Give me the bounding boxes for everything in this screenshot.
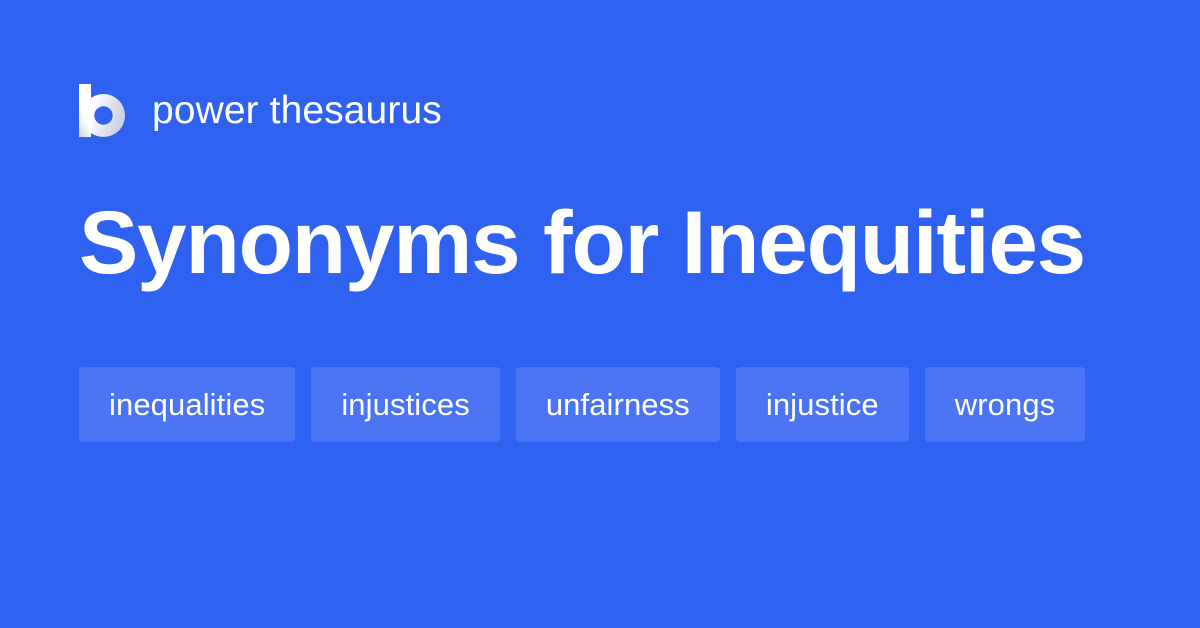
synonym-chip[interactable]: injustices	[311, 367, 500, 442]
brand-name: power thesaurus	[152, 91, 442, 130]
synonym-chip-list: inequalities injustices unfairness injus…	[79, 367, 1129, 442]
page-title: Synonyms for Inequities	[79, 196, 1085, 289]
power-thesaurus-b-logo-icon	[79, 84, 125, 137]
synonym-chip[interactable]: injustice	[736, 367, 909, 442]
synonym-chip[interactable]: unfairness	[516, 367, 720, 442]
synonym-chip[interactable]: inequalities	[79, 367, 295, 442]
brand-lockup[interactable]: power thesaurus	[79, 79, 442, 141]
share-card: power thesaurus Synonyms for Inequities …	[0, 0, 1200, 628]
synonym-chip[interactable]: wrongs	[925, 367, 1086, 442]
